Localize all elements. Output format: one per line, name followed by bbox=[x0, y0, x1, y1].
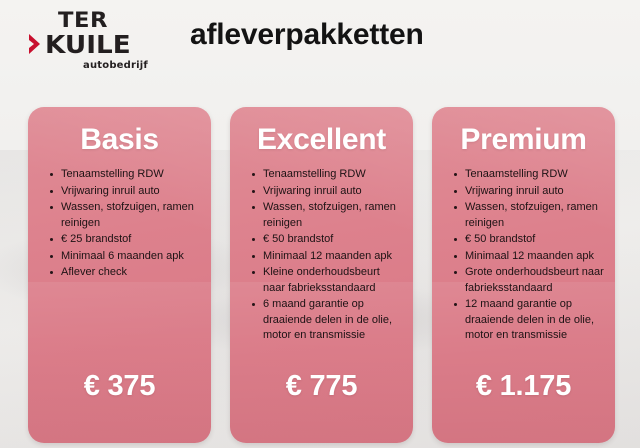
list-item: 12 maand garantie op draaiende delen in … bbox=[454, 297, 605, 344]
logo-text-kuile: KUILE bbox=[45, 32, 131, 57]
page-header: TER KUILE autobedrijf afleverpakketten bbox=[0, 0, 640, 95]
list-item: Wassen, stofzuigen, ramen reinigen bbox=[50, 200, 201, 231]
card-feature-list: Tenaamstelling RDW Vrijwaring inruil aut… bbox=[28, 167, 211, 282]
list-item: Grote onderhoudsbeurt naar fabrieksstand… bbox=[454, 265, 605, 296]
logo-text-ter: TER bbox=[58, 10, 108, 31]
card-price: € 1.175 bbox=[432, 372, 615, 443]
card-price: € 775 bbox=[230, 372, 413, 443]
card-title: Excellent bbox=[230, 125, 413, 155]
card-title: Premium bbox=[432, 125, 615, 155]
list-item: Wassen, stofzuigen, ramen reinigen bbox=[252, 200, 403, 231]
list-item: € 25 brandstof bbox=[50, 232, 201, 248]
card-feature-list: Tenaamstelling RDW Vrijwaring inruil aut… bbox=[230, 167, 413, 345]
list-item: Minimaal 6 maanden apk bbox=[50, 249, 201, 265]
list-item: Vrijwaring inruil auto bbox=[252, 184, 403, 200]
list-item: Minimaal 12 maanden apk bbox=[454, 249, 605, 265]
list-item: Vrijwaring inruil auto bbox=[50, 184, 201, 200]
ter-kuile-logo[interactable]: TER KUILE autobedrijf bbox=[28, 10, 168, 72]
logo-row-kuile: KUILE bbox=[28, 31, 127, 57]
chevron-right-icon bbox=[28, 33, 44, 55]
list-item: Minimaal 12 maanden apk bbox=[252, 249, 403, 265]
pricing-card-premium[interactable]: Premium Tenaamstelling RDW Vrijwaring in… bbox=[432, 107, 615, 443]
list-item: Kleine onderhoudsbeurt naar fabrieksstan… bbox=[252, 265, 403, 296]
page-title: afleverpakketten bbox=[190, 18, 424, 52]
card-feature-list: Tenaamstelling RDW Vrijwaring inruil aut… bbox=[432, 167, 615, 345]
list-item: Tenaamstelling RDW bbox=[50, 167, 201, 183]
card-title: Basis bbox=[28, 125, 211, 155]
list-item: Wassen, stofzuigen, ramen reinigen bbox=[454, 200, 605, 231]
list-item: € 50 brandstof bbox=[252, 232, 403, 248]
list-item: € 50 brandstof bbox=[454, 232, 605, 248]
pricing-card-basis[interactable]: Basis Tenaamstelling RDW Vrijwaring inru… bbox=[28, 107, 211, 443]
list-item: 6 maand garantie op draaiende delen in d… bbox=[252, 297, 403, 344]
afleverpakketten-page: TER KUILE autobedrijf afleverpakketten B… bbox=[0, 0, 640, 448]
list-item: Tenaamstelling RDW bbox=[454, 167, 605, 183]
card-price: € 375 bbox=[28, 372, 211, 443]
list-item: Vrijwaring inruil auto bbox=[454, 184, 605, 200]
list-item: Aflever check bbox=[50, 265, 201, 281]
logo-tagline: autobedrijf bbox=[83, 60, 148, 71]
list-item: Tenaamstelling RDW bbox=[252, 167, 403, 183]
pricing-cards: Basis Tenaamstelling RDW Vrijwaring inru… bbox=[28, 107, 615, 443]
pricing-card-excellent[interactable]: Excellent Tenaamstelling RDW Vrijwaring … bbox=[230, 107, 413, 443]
